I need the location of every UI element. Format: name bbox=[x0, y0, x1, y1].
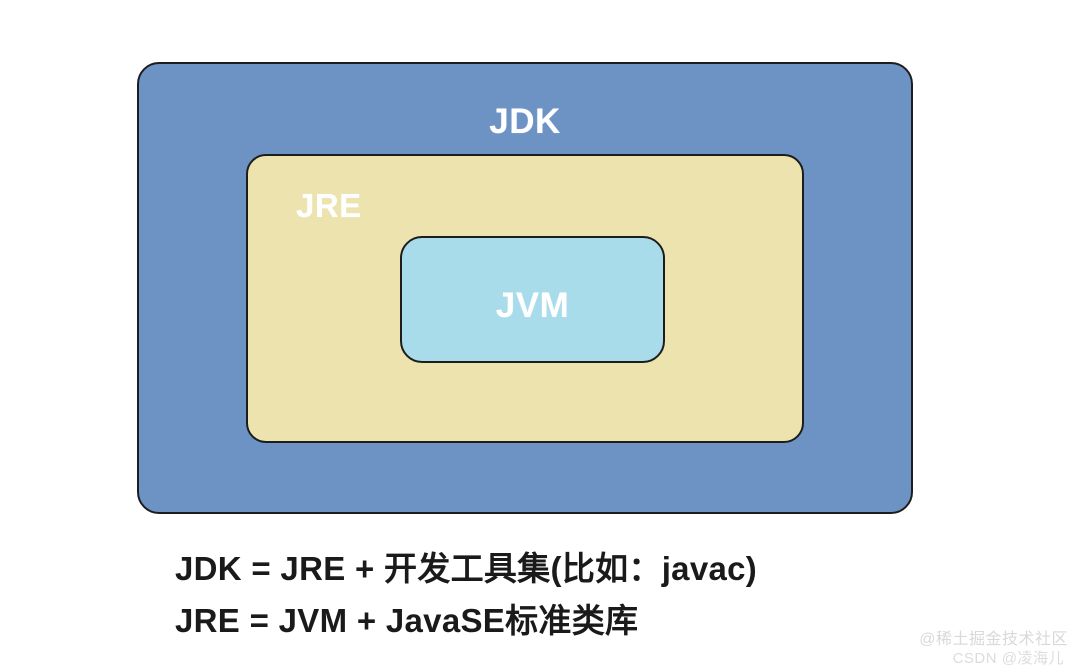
watermark-csdn: CSDN @凌海儿 bbox=[919, 650, 1064, 668]
jdk-label: JDK bbox=[139, 104, 911, 139]
formula-line-jdk: JDK = JRE + 开发工具集(比如：javac) bbox=[175, 543, 955, 595]
jvm-label: JVM bbox=[402, 288, 663, 323]
formula-line-jre: JRE = JVM + JavaSE标准类库 bbox=[175, 595, 955, 647]
jre-box: JRE JVM bbox=[246, 154, 804, 443]
formula-block: JDK = JRE + 开发工具集(比如：javac) JRE = JVM + … bbox=[175, 543, 955, 647]
jdk-box: JDK JRE JVM bbox=[137, 62, 913, 514]
jre-label: JRE bbox=[296, 189, 362, 222]
jvm-box: JVM bbox=[400, 236, 665, 363]
diagram-canvas: JDK JRE JVM JDK = JRE + 开发工具集(比如：javac) … bbox=[0, 0, 1084, 672]
